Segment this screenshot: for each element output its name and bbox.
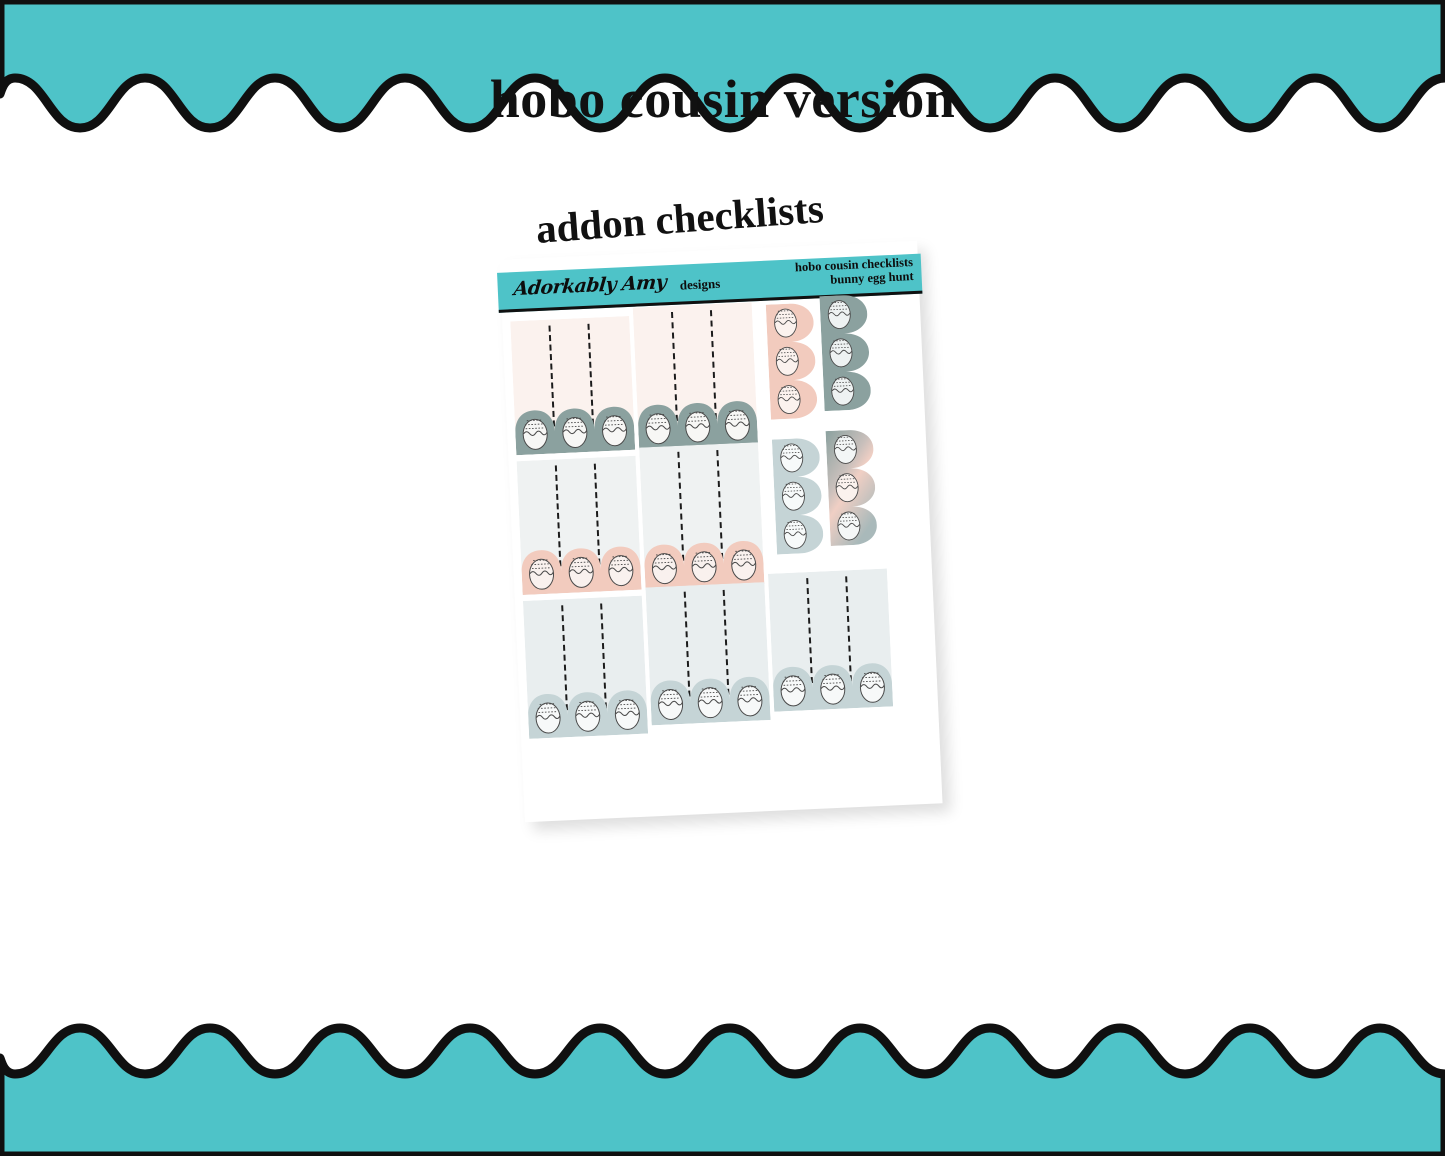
sheet-meta: hobo cousin checklists bunny egg hunt (795, 256, 914, 288)
checklist-box-r1c2[interactable] (633, 302, 758, 449)
scallop-band (637, 396, 758, 449)
scallop-edge-icon (650, 672, 771, 725)
checklist-box-r2c1[interactable] (517, 456, 642, 595)
scallop-edge-icon (521, 542, 642, 595)
scallop-band (514, 402, 635, 455)
scallop-band (650, 672, 771, 725)
scallop-edge-icon (527, 686, 648, 739)
section-title: addon checklists (534, 184, 825, 253)
scallop-edge-icon (514, 402, 635, 455)
vertical-strip-blue-gray[interactable] (772, 437, 824, 554)
scallop-band (527, 686, 648, 739)
brand-logo: Adorkably Amy (513, 271, 667, 300)
checklist-box-r3c2[interactable] (645, 582, 770, 725)
scallop-edge-icon (637, 396, 758, 449)
scallop-band (521, 542, 642, 595)
scallop-edge-icon (643, 536, 764, 589)
page-title: hobo cousin version (0, 68, 1445, 130)
sticker-grid (510, 303, 936, 813)
sticker-sheet: Adorkably Amy designs hobo cousin checkl… (499, 241, 942, 822)
checklist-box-r1c1[interactable] (510, 316, 635, 455)
scallop-band (772, 658, 893, 711)
vertical-strip-pink[interactable] (766, 303, 818, 420)
scallop-band (643, 536, 764, 589)
bottom-scallop-border (0, 1016, 1445, 1156)
vertical-strip-gradient[interactable] (826, 429, 878, 546)
checklist-box-r2c2[interactable] (639, 442, 764, 589)
scallop-edge-icon (772, 658, 893, 711)
scallop-edge-icon (0, 1016, 1445, 1156)
vertical-strip-sage[interactable] (819, 294, 871, 411)
checklist-box-r3c1[interactable] (523, 596, 648, 739)
checklist-box-r3c3[interactable] (768, 569, 893, 712)
brand-suffix-label: designs (679, 276, 720, 294)
